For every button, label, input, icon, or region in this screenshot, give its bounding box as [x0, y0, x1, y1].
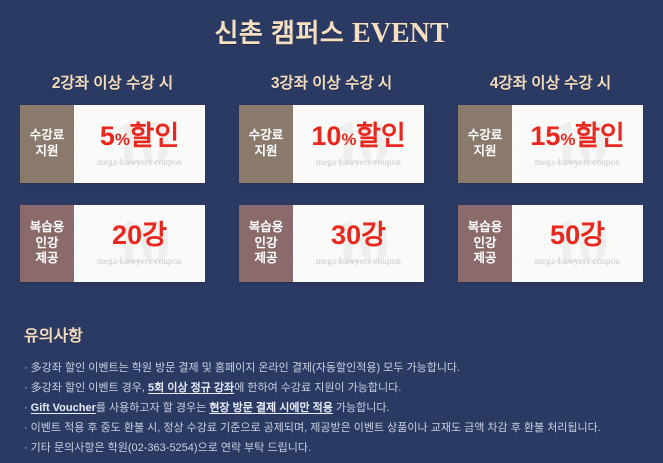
- page-title-en: EVENT: [352, 18, 448, 49]
- coupon-body: 105%할인mega Lawyers coupon: [74, 105, 205, 183]
- coupon-body: 1010%할인mega Lawyers coupon: [293, 105, 424, 183]
- coupon-tab-label: 수강료지원: [458, 105, 512, 183]
- coupon-card[interactable]: 수강료지원105%할인mega Lawyers coupon: [20, 105, 205, 183]
- coupon-tab-label: 복습용인강제공: [458, 205, 512, 283]
- coupon-body: 1030강mega Lawyers coupon: [293, 205, 424, 283]
- coupon-body: 1020강mega Lawyers coupon: [74, 205, 205, 283]
- coupon-tab-line: 제공: [254, 251, 277, 267]
- page-title-ko: 신촌 캠퍼스: [214, 18, 352, 48]
- notice-emphasis: 현장 방문 결제 시에만 적용: [209, 402, 333, 414]
- notice-text: 에 한하여 수강료 지원이 가능합니다.: [234, 382, 401, 394]
- coupon-brand-text: mega Lawyers coupon: [316, 157, 401, 167]
- coupon-unit: %: [560, 130, 575, 149]
- coupon-suffix: 강: [580, 220, 605, 250]
- coupon-tab-line: 복습용: [249, 220, 284, 236]
- coupon-tab-label: 수강료지원: [20, 105, 74, 183]
- coupon-suffix: 할인: [129, 121, 179, 151]
- coupon-card[interactable]: 복습용인강제공1030강mega Lawyers coupon: [239, 205, 424, 283]
- coupon-tab-line: 수강료: [30, 128, 65, 144]
- notice-emphasis: 5회 이상 정규 강좌: [148, 382, 234, 394]
- coupon-card[interactable]: 복습용인강제공1050강mega Lawyers coupon: [458, 205, 643, 283]
- coupon-perforation: [512, 205, 514, 283]
- column-heading: 3강좌 이상 수강 시: [271, 62, 392, 105]
- notice-text: 多강좌 할인 이벤트 경우,: [31, 382, 148, 394]
- coupon-number: 20: [112, 220, 142, 250]
- page-title-bar: 신촌 캠퍼스 EVENT: [0, 0, 663, 62]
- coupon-brand-text: mega Lawyers coupon: [535, 157, 620, 167]
- notice-text: 이벤트 적용 후 중도 환불 시, 정상 수강료 기준으로 공제되며, 제공받은…: [31, 422, 601, 434]
- coupon-brand-text: mega Lawyers coupon: [97, 256, 182, 266]
- bullet-icon: ·: [24, 442, 28, 454]
- coupon-brand-text: mega Lawyers coupon: [97, 157, 182, 167]
- coupon-tab-line: 제공: [35, 251, 58, 267]
- event-promo-page: 신촌 캠퍼스 EVENT 2강좌 이상 수강 시수강료지원105%할인mega …: [0, 0, 663, 463]
- coupon-number: 30: [331, 220, 361, 250]
- coupon-number: 5: [100, 121, 115, 151]
- coupon-value: 10%할인: [311, 123, 405, 150]
- coupon-tab-line: 인강: [473, 236, 496, 252]
- coupon-number: 15: [530, 121, 560, 151]
- coupon-tab-line: 인강: [254, 236, 277, 252]
- coupon-column: 3강좌 이상 수강 시수강료지원1010%할인mega Lawyers coup…: [239, 62, 424, 304]
- coupon-column: 4강좌 이상 수강 시수강료지원1015%할인mega Lawyers coup…: [458, 62, 643, 304]
- coupon-number: 10: [311, 121, 341, 151]
- bullet-icon: ·: [24, 362, 28, 374]
- bullet-icon: ·: [24, 402, 28, 414]
- coupon-tab-line: 인강: [35, 236, 58, 252]
- coupon-tab-line: 제공: [473, 251, 496, 267]
- coupon-brand-text: mega Lawyers coupon: [535, 256, 620, 266]
- coupon-value: 20강: [112, 222, 167, 249]
- coupon-perforation: [293, 105, 295, 183]
- coupon-value: 50강: [550, 222, 605, 249]
- coupon-value: 30강: [331, 222, 386, 249]
- notice-line: ·多강좌 할인 이벤트는 학원 방문 결제 및 홈페이지 온라인 결제(자동할인…: [24, 358, 644, 378]
- bullet-icon: ·: [24, 382, 28, 394]
- coupon-card[interactable]: 수강료지원1010%할인mega Lawyers coupon: [239, 105, 424, 183]
- coupon-tab-line: 지원: [473, 144, 496, 160]
- coupon-number: 50: [550, 220, 580, 250]
- coupon-tab-line: 복습용: [30, 220, 65, 236]
- coupon-suffix: 할인: [575, 121, 625, 151]
- coupon-tab-line: 지원: [254, 144, 277, 160]
- coupon-tab-label: 수강료지원: [239, 105, 293, 183]
- coupon-column: 2강좌 이상 수강 시수강료지원105%할인mega Lawyers coupo…: [20, 62, 205, 304]
- coupon-tab-label: 복습용인강제공: [20, 205, 74, 283]
- notice-text: 가능합니다.: [333, 402, 390, 414]
- coupon-suffix: 할인: [356, 121, 406, 151]
- coupon-suffix: 강: [361, 220, 386, 250]
- coupon-value: 15%할인: [530, 123, 624, 150]
- coupon-tab-line: 수강료: [468, 128, 503, 144]
- notices-section: 유의사항 ·多강좌 할인 이벤트는 학원 방문 결제 및 홈페이지 온라인 결제…: [24, 322, 644, 458]
- coupon-perforation: [293, 205, 295, 283]
- page-title: 신촌 캠퍼스 EVENT: [214, 13, 448, 50]
- notice-emphasis: Gift Voucher: [31, 402, 96, 414]
- notice-line: ·이벤트 적용 후 중도 환불 시, 정상 수강료 기준으로 공제되며, 제공받…: [24, 418, 644, 438]
- bullet-icon: ·: [24, 422, 28, 434]
- notice-text: 기타 문의사항은 학원(02-363-5254)으로 연락 부탁 드립니다.: [31, 442, 311, 454]
- notice-text: 를 사용하고자 할 경우는: [96, 402, 209, 414]
- coupon-value: 5%할인: [100, 123, 179, 150]
- coupon-body: 1015%할인mega Lawyers coupon: [512, 105, 643, 183]
- coupon-card[interactable]: 복습용인강제공1020강mega Lawyers coupon: [20, 205, 205, 283]
- coupon-unit: %: [115, 130, 130, 149]
- coupon-suffix: 강: [142, 220, 167, 250]
- coupon-brand-text: mega Lawyers coupon: [316, 256, 401, 266]
- coupon-body: 1050강mega Lawyers coupon: [512, 205, 643, 283]
- notices-list: ·多강좌 할인 이벤트는 학원 방문 결제 및 홈페이지 온라인 결제(자동할인…: [24, 358, 644, 458]
- notice-line: ·Gift Voucher를 사용하고자 할 경우는 현장 방문 결제 시에만 …: [24, 398, 644, 418]
- column-heading: 2강좌 이상 수강 시: [52, 62, 173, 105]
- coupon-unit: %: [341, 130, 356, 149]
- column-heading: 4강좌 이상 수강 시: [490, 62, 611, 105]
- coupon-perforation: [74, 205, 76, 283]
- notices-title: 유의사항: [24, 322, 644, 346]
- coupon-perforation: [512, 105, 514, 183]
- coupon-columns: 2강좌 이상 수강 시수강료지원105%할인mega Lawyers coupo…: [0, 62, 663, 304]
- notice-text: 多강좌 할인 이벤트는 학원 방문 결제 및 홈페이지 온라인 결제(자동할인적…: [31, 362, 460, 374]
- coupon-tab-line: 수강료: [249, 128, 284, 144]
- notice-line: ·多강좌 할인 이벤트 경우, 5회 이상 정규 강좌에 한하여 수강료 지원이…: [24, 378, 644, 398]
- coupon-perforation: [74, 105, 76, 183]
- coupon-card[interactable]: 수강료지원1015%할인mega Lawyers coupon: [458, 105, 643, 183]
- coupon-tab-line: 지원: [35, 144, 58, 160]
- coupon-tab-label: 복습용인강제공: [239, 205, 293, 283]
- coupon-tab-line: 복습용: [468, 220, 503, 236]
- notice-line: ·기타 문의사항은 학원(02-363-5254)으로 연락 부탁 드립니다.: [24, 438, 644, 458]
